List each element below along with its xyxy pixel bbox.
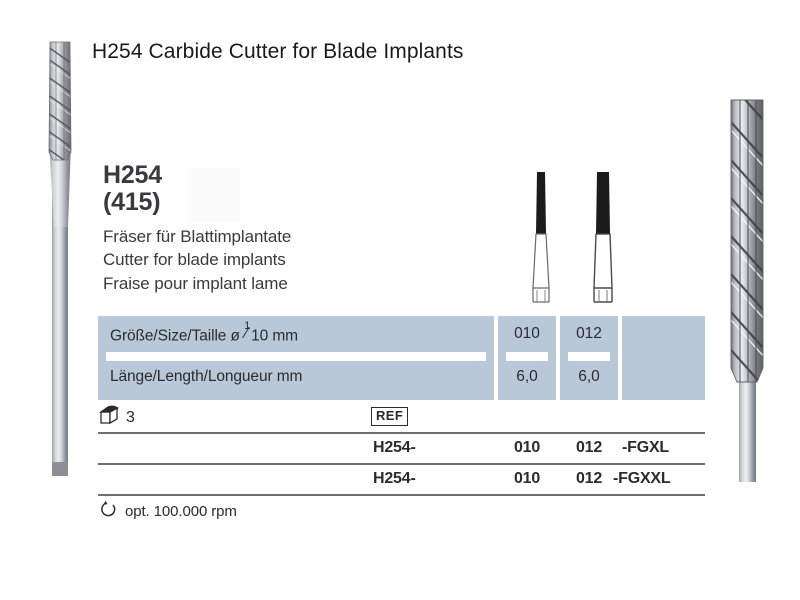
spec-row-label-size: Größe/Size/Taille ø 1⁄10 mm	[110, 325, 298, 346]
description-de: Fräser für Blattimplantate	[103, 225, 433, 248]
row-divider-012	[568, 352, 610, 361]
ref-size-010-1: 010	[498, 439, 556, 457]
specification-table: Größe/Size/Taille ø 1⁄10 mm Länge/Length…	[98, 316, 705, 400]
ref-badge: REF	[371, 407, 408, 426]
spec-length-010: 6,0	[498, 368, 556, 386]
packaging-info: 3	[98, 404, 135, 431]
fraction-slash: ⁄	[245, 325, 248, 343]
carbide-bur-photo-right	[716, 82, 780, 487]
ref-rule-bottom	[98, 494, 705, 496]
ref-suffix-2: -FGXXL	[613, 470, 670, 488]
description-en: Cutter for blade implants	[103, 248, 433, 271]
ref-suffix-1: -FGXL	[622, 439, 669, 457]
spec-row-label-length: Länge/Length/Longueur mm	[110, 368, 302, 386]
ref-prefix-2: H254-	[373, 470, 416, 488]
ref-size-010-2: 010	[498, 470, 556, 488]
ref-size-012-2: 012	[560, 470, 618, 488]
carbide-bur-photo-left	[34, 22, 86, 487]
size-label-prefix: Größe/Size/Taille ø	[110, 328, 244, 345]
product-code: H254	[103, 162, 433, 188]
product-info-block: H254 (415) Fräser für Blattimplantate Cu…	[103, 162, 433, 295]
bur-silhouette-012	[586, 168, 620, 313]
row-divider-010	[506, 352, 548, 361]
bur-silhouette-010	[524, 168, 558, 313]
fraction-one-tenth: 1⁄	[244, 325, 251, 341]
box-icon	[98, 404, 124, 431]
spec-column-blank	[622, 316, 705, 400]
page-title: H254 Carbide Cutter for Blade Implants	[92, 40, 463, 64]
row-divider-label	[106, 352, 486, 361]
rotation-icon	[100, 500, 118, 523]
product-alt-code: (415)	[103, 188, 433, 216]
speed-text: opt. 100.000 rpm	[125, 503, 237, 520]
ref-prefix-1: H254-	[373, 439, 416, 457]
packaging-quantity: 3	[126, 409, 135, 427]
spec-size-010: 010	[498, 325, 556, 343]
size-label-suffix: 10 mm	[251, 328, 298, 345]
speed-info: opt. 100.000 rpm	[100, 500, 237, 523]
spec-size-012: 012	[560, 325, 618, 343]
ref-size-012-1: 012	[560, 439, 618, 457]
ref-row-fgxxl: H254- 010 012 -FGXXL	[98, 463, 705, 494]
product-descriptions: Fräser für Blattimplantate Cutter for bl…	[103, 225, 433, 295]
ref-row-fgxl: H254- 010 012 -FGXL	[98, 432, 705, 463]
description-fr: Fraise pour implant lame	[103, 272, 433, 295]
spec-length-012: 6,0	[560, 368, 618, 386]
